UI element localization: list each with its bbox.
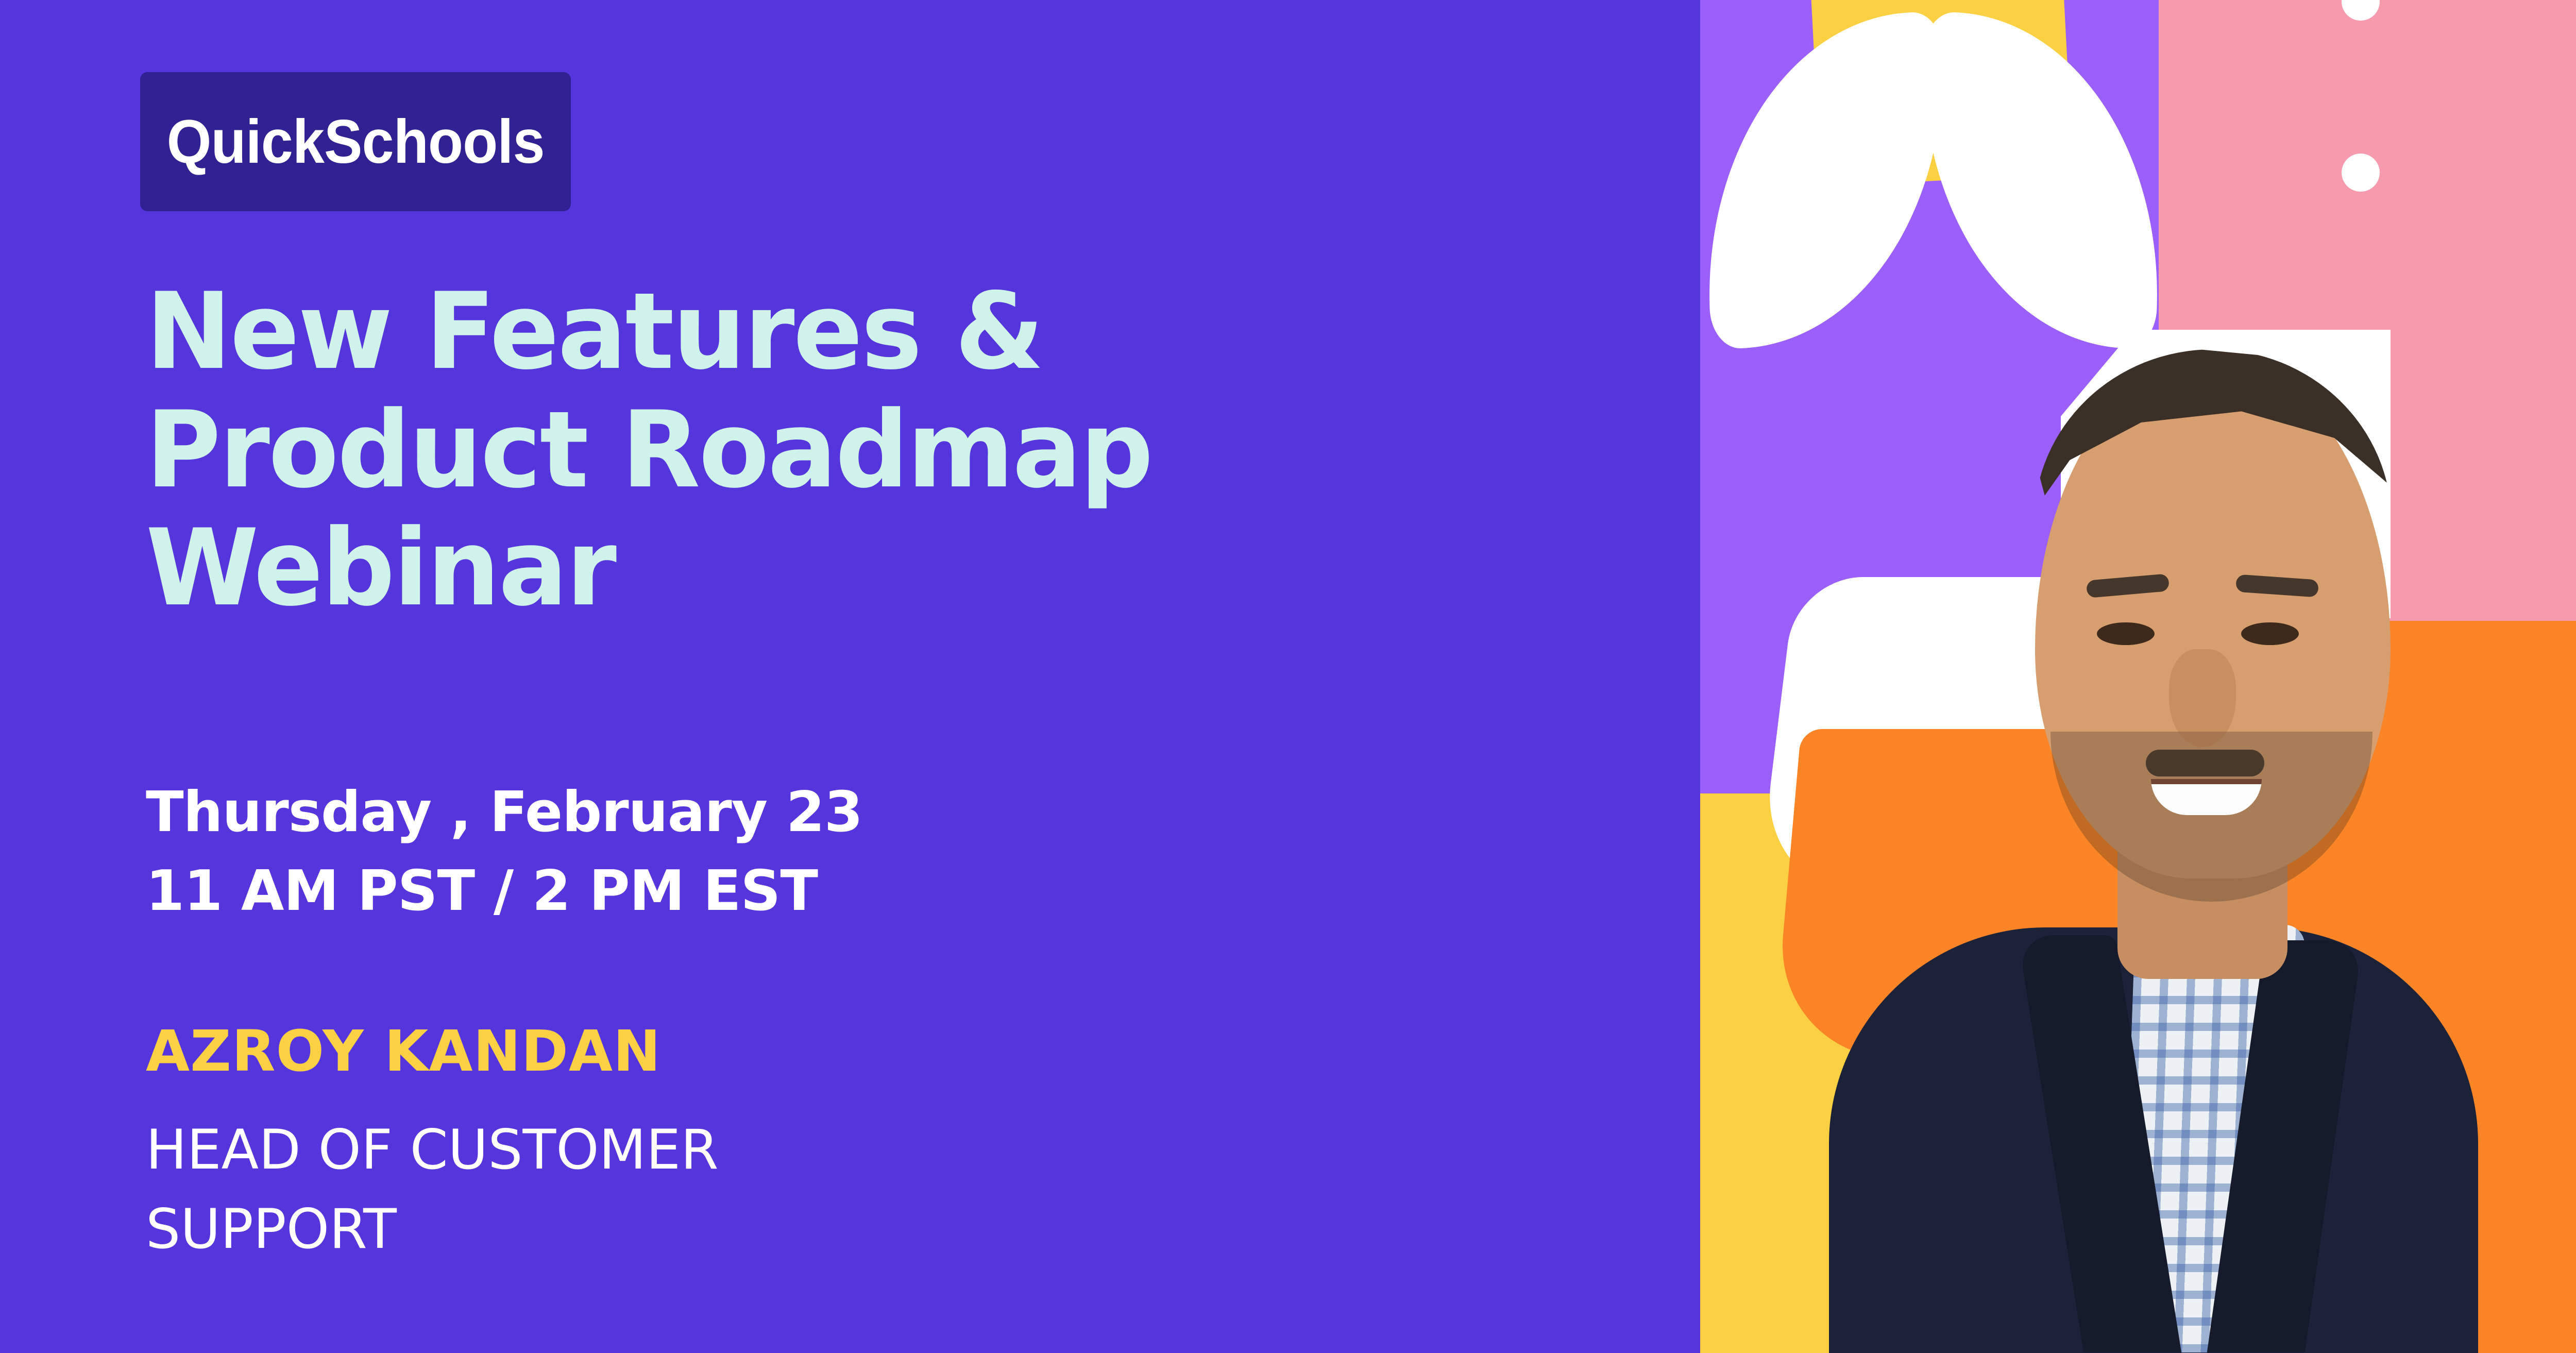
portrait-eye-left [2097, 622, 2155, 645]
portrait-eye-right [2241, 622, 2299, 645]
webinar-promo-banner: QuickSchools New Features & Product Road… [0, 0, 2576, 1353]
portrait-moustache [2146, 750, 2264, 776]
page-title: New Features & Product Roadmap Webinar [146, 273, 1345, 628]
decorative-art-panel [1700, 0, 2576, 1353]
speaker-title: HEAD OF CUSTOMER SUPPORT [146, 1110, 719, 1269]
content-column: QuickSchools New Features & Product Road… [0, 0, 1700, 1353]
brand-logo-wordmark: QuickSchools [166, 106, 544, 177]
event-schedule: Thursday , February 23 11 AM PST / 2 PM … [146, 773, 862, 931]
speaker-portrait [1829, 289, 2478, 1353]
circle-decoration-icon [2342, 154, 2380, 192]
speaker-name: AZROY KANDAN [146, 1023, 661, 1079]
brand-logo[interactable]: QuickSchools [140, 72, 571, 211]
portrait-nose [2169, 649, 2236, 747]
